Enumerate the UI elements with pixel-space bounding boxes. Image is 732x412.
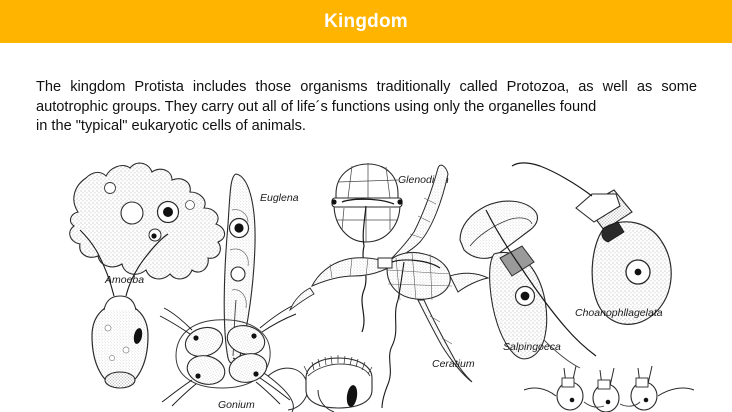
gonium-eyespot-4	[253, 371, 258, 376]
label-gonium: Gonium	[218, 399, 255, 411]
organism-colony	[524, 366, 694, 412]
choanoflagellate-flagellum	[512, 163, 592, 196]
salpingoeca-collar	[460, 201, 537, 258]
label-ceratium: Ceratium	[432, 358, 475, 370]
gonium-cell-3	[184, 352, 228, 388]
chlamydomonas-vacuole-1	[105, 325, 111, 331]
chlamydomonas-vacuole-3	[109, 355, 114, 360]
chlamydomonas-pyrenoid	[105, 372, 135, 388]
euglena-nucleolus	[234, 223, 243, 232]
colony-stalk-left	[524, 388, 556, 396]
colony-zooid-2-lorica	[598, 380, 610, 389]
label-euglena: Euglena	[260, 192, 299, 204]
intro-paragraph: The kingdom Protista includes those orga…	[36, 78, 697, 137]
label-amoeba: Amoeba	[104, 274, 144, 286]
ceratium-right-horn	[450, 273, 488, 292]
ceratium-body	[387, 252, 450, 299]
colony-zooid-1-lorica	[562, 378, 574, 387]
euglena-flagellum-loop	[268, 368, 308, 410]
gonium-eyespot-2	[251, 333, 256, 338]
colony-zooid-1-nucleus	[570, 398, 575, 403]
intro-line-3: in the "typical" eukaryotic cells of ani…	[36, 117, 697, 137]
page-title: Kingdom	[324, 12, 408, 31]
organism-salpingoeca: Salpingoeca	[460, 201, 596, 368]
amoeba-contractile-vacuole	[121, 202, 143, 224]
gonium-eyespot-3	[195, 373, 200, 378]
glenodium-epitheca	[336, 164, 398, 202]
choanoflagellate-nucleolus	[635, 269, 642, 276]
organism-stentor	[304, 355, 372, 412]
amoeba-vacuole-small-1	[105, 183, 116, 194]
euglena-vacuole	[231, 267, 245, 281]
gonium-eyespot-1	[193, 335, 198, 340]
stentor-peristome	[306, 358, 372, 408]
label-choanophllagelata: Choanophllagelata	[575, 307, 663, 319]
protist-illustration-plate: Amoeba Euglena Glenod	[0, 150, 732, 412]
glenodium-pore-left	[331, 199, 336, 204]
intro-line-1: The kingdom Protista includes those orga…	[36, 79, 652, 95]
ceratium-left-horn	[312, 258, 388, 286]
amoeba-vacuole-small-3	[186, 201, 195, 210]
colony-zooid-2-nucleus	[606, 400, 611, 405]
organism-amoeba: Amoeba	[70, 163, 225, 286]
colony-stalk-right	[658, 388, 694, 396]
amoeba-nucleolus	[163, 207, 173, 217]
ceratium-left-horn-tip	[290, 288, 314, 310]
colony-zooid-3-nucleus	[644, 398, 649, 403]
page-header-bar: Kingdom	[0, 0, 732, 43]
colony-zooid-2	[593, 368, 619, 412]
colony-zooid-3	[631, 366, 657, 410]
intro-paragraph-block: The kingdom Protista includes those orga…	[36, 78, 697, 137]
colony-zooid-1	[557, 366, 583, 410]
chlamydomonas-vacuole-2	[123, 347, 129, 353]
amoeba-body	[70, 163, 225, 279]
chlamydomonas-papilla	[104, 296, 136, 310]
glenodium-pore-right	[397, 199, 402, 204]
ceratium-cingulum-left	[378, 258, 392, 268]
label-salpingoeca: Salpingoeca	[503, 341, 561, 353]
protist-figure-svg: Amoeba Euglena Glenod	[0, 150, 732, 412]
colony-zooid-3-lorica	[636, 378, 648, 387]
salpingoeca-nucleolus	[521, 292, 530, 301]
amoeba-food-particle	[151, 233, 156, 238]
